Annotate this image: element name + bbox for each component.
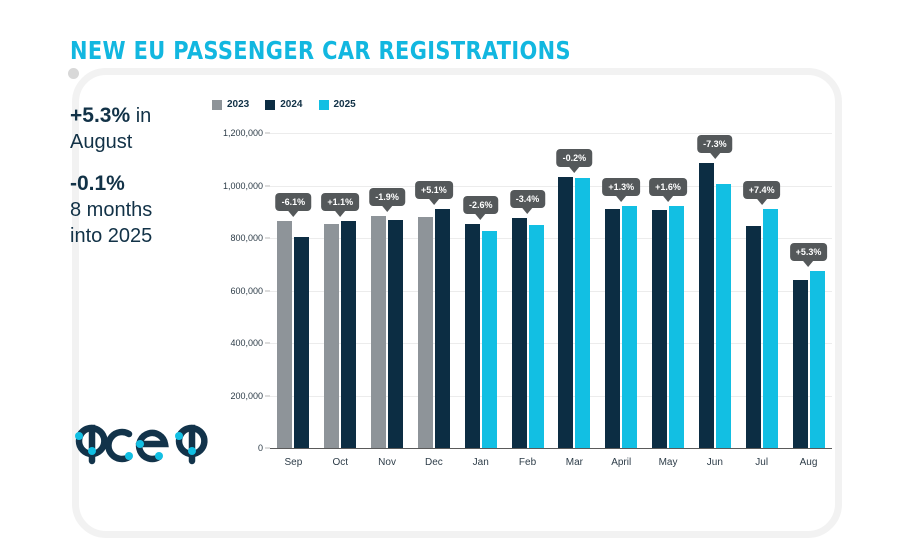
x-axis-label-Nov: Nov xyxy=(378,457,396,468)
change-badge-Feb: -3.4% xyxy=(510,190,546,208)
bar-group-Jan: -2.6%Jan xyxy=(457,133,504,448)
page-title: NEW EU PASSENGER CAR REGISTRATIONS xyxy=(70,36,571,65)
change-badge-Nov: -1.9% xyxy=(369,188,405,206)
summary-block: +5.3% in August -0.1% 8 months into 2025 xyxy=(70,103,210,266)
bar-Jul-2025[interactable] xyxy=(763,209,778,448)
x-axis-label-Aug: Aug xyxy=(800,457,818,468)
x-axis-label-Jun: Jun xyxy=(707,457,723,468)
legend-label: 2024 xyxy=(280,99,302,110)
bar-April-2024[interactable] xyxy=(605,209,620,448)
change-badge-Sep: -6.1% xyxy=(276,193,312,211)
change-badge-Jul: +7.4% xyxy=(743,181,781,199)
bar-group-Feb: -3.4%Feb xyxy=(504,133,551,448)
x-axis-label-April: April xyxy=(611,457,631,468)
bar-group-Sep: -6.1%Sep xyxy=(270,133,317,448)
x-axis-label-Feb: Feb xyxy=(519,457,536,468)
y-axis-tick-label: 600,000 xyxy=(230,286,263,296)
summary-ytd-line3: into 2025 xyxy=(70,224,210,250)
x-axis-label-Sep: Sep xyxy=(285,457,303,468)
summary-august-suffix: in xyxy=(130,105,151,127)
bar-Dec-2023[interactable] xyxy=(418,217,433,448)
change-badge-Oct: +1.1% xyxy=(321,193,359,211)
bar-May-2025[interactable] xyxy=(669,206,684,448)
bar-Oct-2024[interactable] xyxy=(341,221,356,448)
summary-ytd: -0.1% 8 months into 2025 xyxy=(70,171,210,249)
y-axis-tick-label: 1,200,000 xyxy=(223,128,263,138)
bar-Nov-2024[interactable] xyxy=(388,220,403,448)
bar-Jun-2025[interactable] xyxy=(716,184,731,448)
bar-chart: 0200,000400,000600,000800,0001,000,0001,… xyxy=(212,126,832,456)
bar-group-Dec: +5.1%Dec xyxy=(410,133,457,448)
bar-Aug-2025[interactable] xyxy=(810,271,825,448)
bar-Mar-2025[interactable] xyxy=(575,178,590,448)
acea-logo xyxy=(70,412,210,474)
change-badge-April: +1.3% xyxy=(602,178,640,196)
summary-august-value: +5.3% xyxy=(70,104,130,127)
bar-Jan-2024[interactable] xyxy=(465,224,480,448)
x-axis-label-Jul: Jul xyxy=(755,457,768,468)
legend-item-2024[interactable]: 2024 xyxy=(265,99,302,110)
decorative-panel-dot xyxy=(68,68,79,79)
summary-august-line1: +5.3% in xyxy=(70,103,210,130)
bar-Feb-2024[interactable] xyxy=(512,218,527,448)
y-axis-tick-label: 400,000 xyxy=(230,338,263,348)
change-badge-Mar: -0.2% xyxy=(557,149,593,167)
bar-groups: -6.1%Sep+1.1%Oct-1.9%Nov+5.1%Dec-2.6%Jan… xyxy=(270,133,832,448)
bar-group-May: +1.6%May xyxy=(645,133,692,448)
summary-august: +5.3% in August xyxy=(70,103,210,155)
legend-label: 2023 xyxy=(227,99,249,110)
change-badge-Jun: -7.3% xyxy=(697,135,733,153)
bar-Jun-2024[interactable] xyxy=(699,163,714,448)
x-axis-label-Jan: Jan xyxy=(473,457,489,468)
summary-ytd-value: -0.1% xyxy=(70,172,125,195)
summary-ytd-line2: 8 months xyxy=(70,198,210,224)
bar-group-Jul: +7.4%Jul xyxy=(738,133,785,448)
summary-ytd-line1: -0.1% xyxy=(70,171,210,198)
chart-legend: 202320242025 xyxy=(212,99,356,110)
bar-Mar-2024[interactable] xyxy=(558,177,573,448)
x-axis-label-Oct: Oct xyxy=(332,457,348,468)
bar-Sep-2024[interactable] xyxy=(294,237,309,448)
summary-august-line2: August xyxy=(70,130,210,156)
bar-group-Aug: +5.3%Aug xyxy=(785,133,832,448)
bar-group-Nov: -1.9%Nov xyxy=(364,133,411,448)
bar-group-Jun: -7.3%Jun xyxy=(691,133,738,448)
bar-Oct-2023[interactable] xyxy=(324,224,339,448)
x-axis-label-Mar: Mar xyxy=(566,457,583,468)
legend-swatch-icon xyxy=(265,100,275,110)
y-axis-tick-label: 0 xyxy=(258,443,263,453)
y-axis-tick-label: 200,000 xyxy=(230,391,263,401)
y-axis-tick-label: 800,000 xyxy=(230,233,263,243)
bar-Jan-2025[interactable] xyxy=(482,231,497,448)
bar-Nov-2023[interactable] xyxy=(371,216,386,448)
bar-May-2024[interactable] xyxy=(652,210,667,448)
change-badge-May: +1.6% xyxy=(649,178,687,196)
bar-Feb-2025[interactable] xyxy=(529,225,544,448)
legend-swatch-icon xyxy=(212,100,222,110)
change-badge-Dec: +5.1% xyxy=(415,181,453,199)
bar-group-April: +1.3%April xyxy=(598,133,645,448)
bar-group-Oct: +1.1%Oct xyxy=(317,133,364,448)
change-badge-Aug: +5.3% xyxy=(790,243,828,261)
legend-item-2023[interactable]: 2023 xyxy=(212,99,249,110)
change-badge-Jan: -2.6% xyxy=(463,196,499,214)
legend-label: 2025 xyxy=(334,99,356,110)
legend-swatch-icon xyxy=(319,100,329,110)
bar-April-2025[interactable] xyxy=(622,206,637,448)
bar-Jul-2024[interactable] xyxy=(746,226,761,448)
plot-area: 0200,000400,000600,000800,0001,000,0001,… xyxy=(270,133,832,448)
legend-item-2025[interactable]: 2025 xyxy=(319,99,356,110)
axis-baseline xyxy=(270,448,832,449)
y-axis-tick-label: 1,000,000 xyxy=(223,181,263,191)
x-axis-label-Dec: Dec xyxy=(425,457,443,468)
bar-group-Mar: -0.2%Mar xyxy=(551,133,598,448)
bar-Aug-2024[interactable] xyxy=(793,280,808,448)
bar-Dec-2024[interactable] xyxy=(435,209,450,448)
x-axis-label-May: May xyxy=(659,457,678,468)
acea-logo-svg xyxy=(70,412,210,474)
bar-Sep-2023[interactable] xyxy=(277,221,292,448)
